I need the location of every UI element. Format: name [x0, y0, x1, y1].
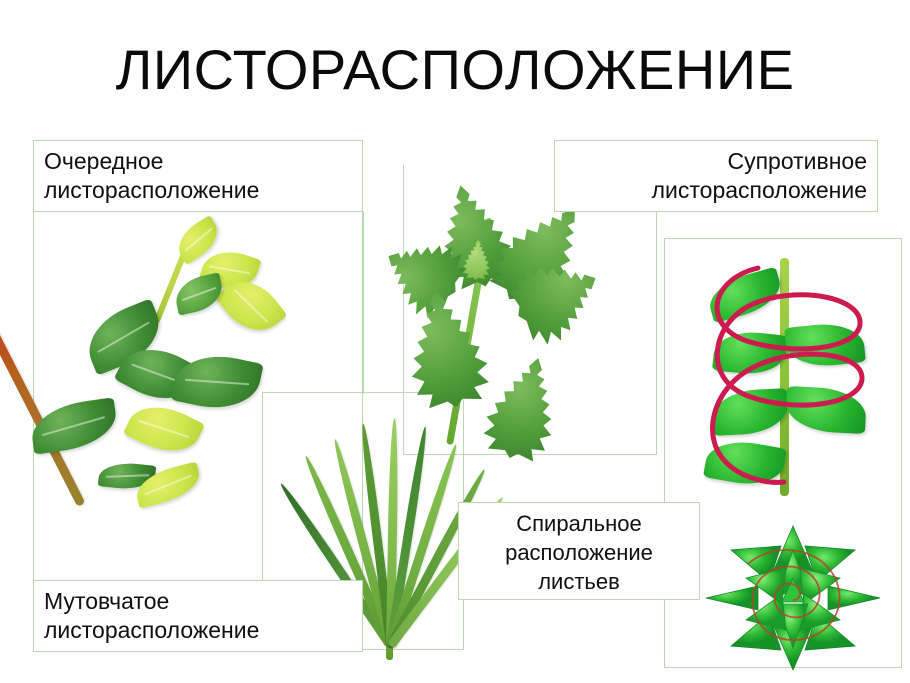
slide-canvas: ЛИСТОРАСПОЛОЖЕНИЕ Очередное листорасполо… [0, 0, 910, 683]
spiral-leaf-icon [711, 388, 789, 436]
leaf-icon [170, 347, 263, 417]
leaf-icon [172, 272, 226, 315]
spiral-leaf-icon [712, 328, 788, 377]
caption-spiral: Спиральное расположение листьев [458, 502, 700, 600]
spiral-rosette-top-view-diagram [700, 520, 886, 676]
spiral-leaf-icon [784, 320, 866, 370]
spiral-leaf-icon [703, 436, 787, 491]
spiral-leaf-icon [704, 267, 786, 324]
page-title: ЛИСТОРАСПОЛОЖЕНИЕ [0, 38, 910, 102]
spiral-leaf-icon [785, 386, 867, 434]
caption-alternate: Очередное листорасположение [33, 140, 363, 212]
spiral-leaf-arrangement-diagram [672, 250, 904, 500]
connector-opposite [656, 212, 657, 240]
caption-whorled: Мутовчатое листорасположение [33, 580, 363, 652]
leaf-icon [28, 397, 120, 455]
branch-stem-icon [0, 273, 86, 507]
caption-opposite: Супротивное листорасположение [554, 140, 878, 212]
rosette-icon [700, 520, 886, 676]
connector-alternate [363, 212, 364, 394]
